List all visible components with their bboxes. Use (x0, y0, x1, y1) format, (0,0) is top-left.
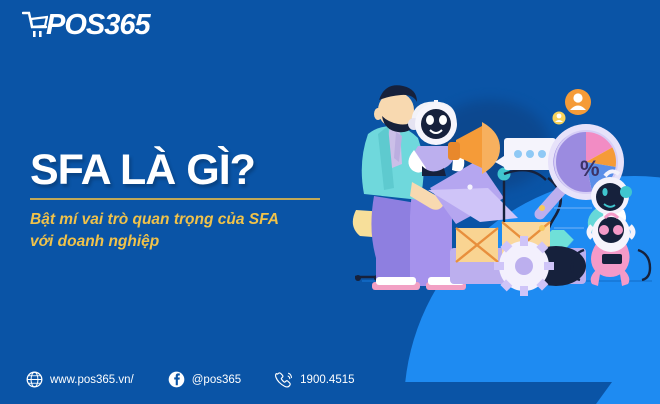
contact-facebook-label: @pos365 (192, 374, 241, 386)
contact-facebook[interactable]: @pos365 (168, 371, 241, 388)
white-robot-with-megaphone (408, 100, 500, 176)
contact-phone[interactable]: 1900.4515 (275, 371, 354, 388)
hero-text-block: SFA LÀ GÌ? Bật mí vai trò quan trọng của… (30, 148, 370, 253)
percent-symbol: % (580, 156, 600, 181)
sales-force-automation-illustration: % (352, 70, 652, 315)
logo[interactable]: POS365 (22, 8, 150, 42)
user-avatar-bubbles (553, 89, 592, 125)
contact-website[interactable]: www.pos365.vn/ (26, 371, 134, 388)
banner-root: % (0, 0, 660, 404)
contact-website-label: www.pos365.vn/ (50, 374, 134, 386)
globe-icon (26, 371, 43, 388)
facebook-icon (168, 371, 185, 388)
chat-bubble-with-dots (495, 138, 556, 170)
contact-phone-label: 1900.4515 (300, 374, 354, 386)
page-title: SFA LÀ GÌ? (30, 148, 370, 193)
title-divider (30, 198, 320, 200)
footer-contacts: www.pos365.vn/ @pos365 1900.4515 (26, 371, 355, 388)
page-subtitle-line-2: với doanh nghiệp (30, 231, 330, 253)
logo-text: POS365 (46, 11, 150, 40)
page-subtitle: Bật mí vai trò quan trọng của SFA với do… (30, 209, 330, 253)
shopping-cart-icon (22, 10, 48, 40)
page-subtitle-line-1: Bật mí vai trò quan trọng của SFA (30, 209, 330, 231)
phone-icon (275, 371, 293, 388)
gear-wheel (494, 236, 554, 296)
